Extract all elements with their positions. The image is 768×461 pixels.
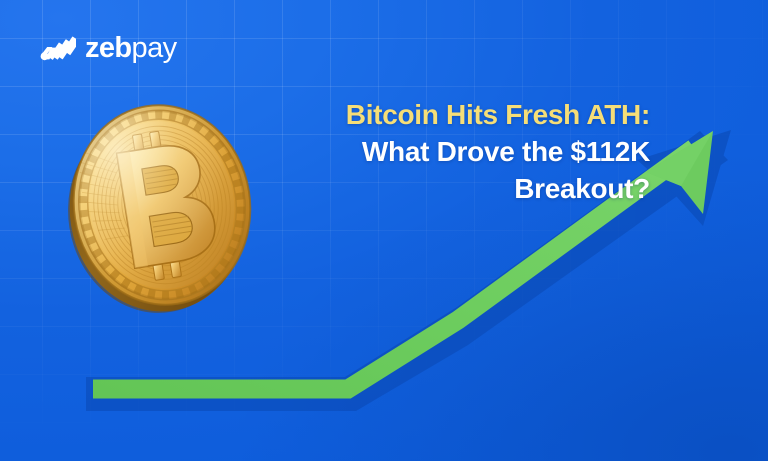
- logo-word-zeb: zeb: [85, 32, 132, 64]
- zebpay-wordmark: zebpay: [85, 34, 177, 63]
- headline-block: Bitcoin Hits Fresh ATH: What Drove the $…: [268, 96, 650, 207]
- headline-line-2: What Drove the $112K: [268, 133, 650, 170]
- zebpay-logo[interactable]: zebpay: [40, 31, 177, 65]
- headline-line-1: Bitcoin Hits Fresh ATH:: [268, 96, 650, 133]
- marketing-banner: zebpay Bitcoin Hits Fresh ATH: What Drov…: [0, 0, 768, 461]
- bitcoin-coin-icon: [62, 100, 262, 315]
- bitcoin-coin-graphic: [62, 100, 262, 315]
- logo-word-pay: pay: [132, 32, 177, 64]
- headline-line-3: Breakout?: [268, 170, 650, 207]
- zebpay-slashes-icon: [40, 35, 76, 61]
